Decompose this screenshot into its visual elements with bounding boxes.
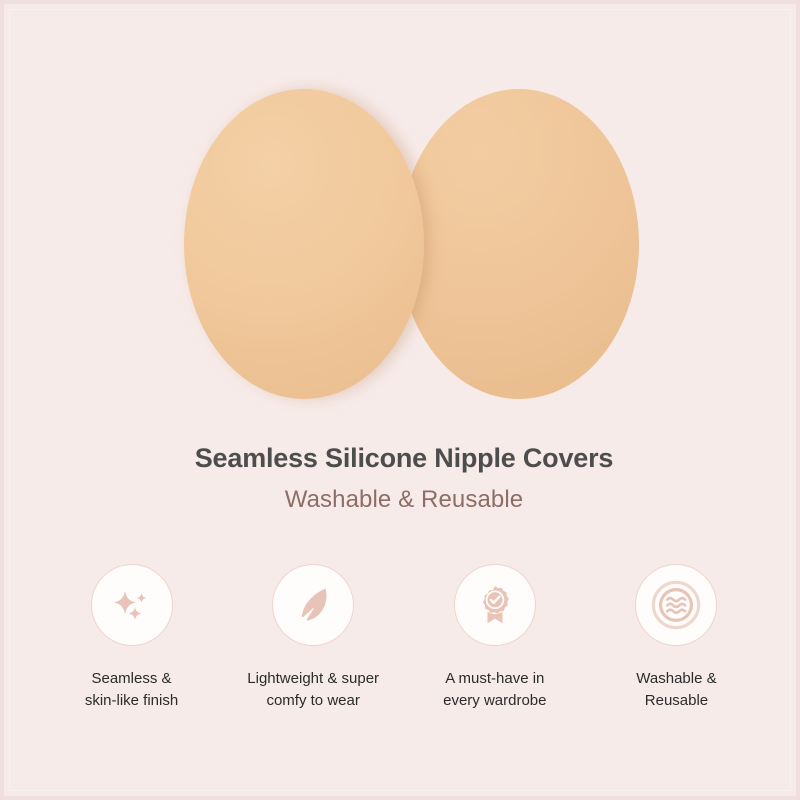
feature-item-must-have: A must-have in every wardrobe — [407, 564, 582, 712]
award-badge-icon — [454, 564, 536, 646]
feature-caption: A must-have in every wardrobe — [443, 668, 546, 712]
front-disc — [184, 89, 424, 399]
feather-icon — [272, 564, 354, 646]
headings-block: Seamless Silicone Nipple Covers Washable… — [4, 442, 800, 515]
feature-list: Seamless & skin-like finish Lightweight … — [44, 564, 764, 712]
product-feature-card: Seamless Silicone Nipple Covers Washable… — [0, 0, 800, 800]
back-disc — [399, 89, 639, 399]
feature-caption: Washable & Reusable — [636, 668, 716, 712]
feature-caption: Lightweight & super comfy to wear — [247, 668, 379, 712]
feature-item-seamless: Seamless & skin-like finish — [44, 564, 219, 712]
page-subtitle: Washable & Reusable — [4, 486, 800, 515]
feature-item-lightweight: Lightweight & super comfy to wear — [226, 564, 401, 712]
page-title: Seamless Silicone Nipple Covers — [4, 442, 800, 474]
wash-waves-icon — [635, 564, 717, 646]
feature-caption: Seamless & skin-like finish — [85, 668, 178, 712]
sparkles-icon — [91, 564, 173, 646]
hero-product-image — [4, 4, 800, 424]
feature-item-washable: Washable & Reusable — [589, 564, 764, 712]
